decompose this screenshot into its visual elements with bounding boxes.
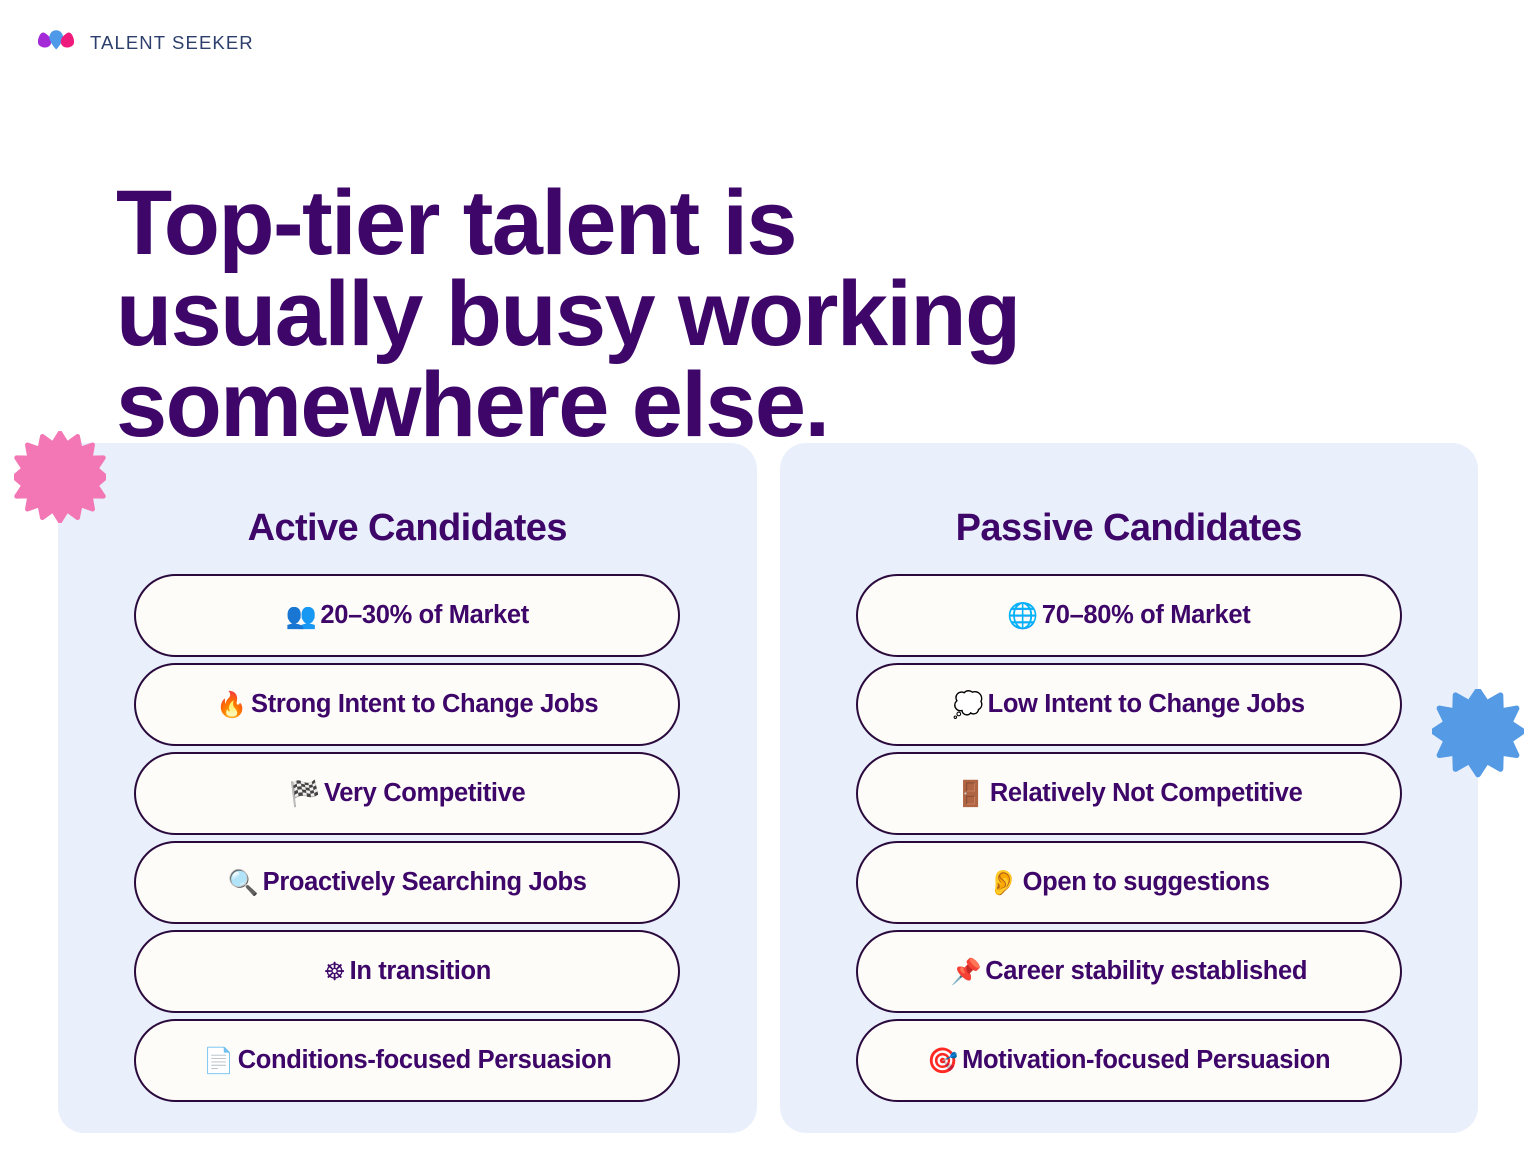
pill-label: Strong Intent to Change Jobs bbox=[251, 690, 598, 719]
pushpin-icon: 📌 bbox=[950, 959, 981, 984]
pill-label: Low Intent to Change Jobs bbox=[988, 690, 1305, 719]
pill-label: Open to suggestions bbox=[1023, 868, 1270, 897]
starburst-blue-decoration bbox=[1432, 689, 1524, 781]
headline-line-1: Top-tier talent is bbox=[116, 178, 1396, 269]
pill-item[interactable]: 🌐 70–80% of Market bbox=[856, 574, 1402, 657]
pill-label: 70–80% of Market bbox=[1042, 601, 1250, 630]
pill-item[interactable]: 🎯 Motivation-focused Persuasion bbox=[856, 1019, 1402, 1102]
panel-title-passive: Passive Candidates bbox=[956, 507, 1302, 550]
thought-balloon-icon: 💭 bbox=[953, 692, 984, 717]
pill-item[interactable]: 🔥 Strong Intent to Change Jobs bbox=[134, 663, 680, 746]
pill-label: Motivation-focused Persuasion bbox=[962, 1046, 1330, 1075]
brand-header: TALENT SEEKER bbox=[36, 28, 254, 58]
brand-name: TALENT SEEKER bbox=[90, 32, 254, 54]
pill-item[interactable]: 💭 Low Intent to Change Jobs bbox=[856, 663, 1402, 746]
pill-item[interactable]: 🏁 Very Competitive bbox=[134, 752, 680, 835]
pill-item[interactable]: 👥 20–30% of Market bbox=[134, 574, 680, 657]
pill-list-active: 👥 20–30% of Market 🔥 Strong Intent to Ch… bbox=[134, 574, 680, 1102]
pill-item[interactable]: ☸ In transition bbox=[134, 930, 680, 1013]
page-headline: Top-tier talent is usually busy working … bbox=[116, 178, 1396, 451]
pill-item[interactable]: 📌 Career stability established bbox=[856, 930, 1402, 1013]
pill-label: 20–30% of Market bbox=[320, 601, 528, 630]
headline-line-3: somewhere else. bbox=[116, 360, 1396, 451]
pill-label: Proactively Searching Jobs bbox=[263, 868, 587, 897]
pill-item[interactable]: 👂 Open to suggestions bbox=[856, 841, 1402, 924]
headline-line-2: usually busy working bbox=[116, 269, 1396, 360]
pill-label: In transition bbox=[350, 957, 491, 986]
pill-item[interactable]: 📄 Conditions-focused Persuasion bbox=[134, 1019, 680, 1102]
panel-passive-candidates: Passive Candidates 🌐 70–80% of Market 💭 … bbox=[780, 443, 1479, 1133]
busts-in-silhouette-icon: 👥 bbox=[286, 603, 317, 628]
pill-label: Very Competitive bbox=[324, 779, 525, 808]
pill-label: Conditions-focused Persuasion bbox=[238, 1046, 612, 1075]
pill-label: Relatively Not Competitive bbox=[990, 779, 1303, 808]
globe-meridians-icon: 🌐 bbox=[1007, 603, 1038, 628]
panel-title-active: Active Candidates bbox=[248, 507, 567, 550]
ear-icon: 👂 bbox=[988, 870, 1019, 895]
pill-item[interactable]: 🔍 Proactively Searching Jobs bbox=[134, 841, 680, 924]
starburst-pink-decoration bbox=[14, 431, 106, 523]
comparison-panels: Active Candidates 👥 20–30% of Market 🔥 S… bbox=[58, 443, 1478, 1133]
door-icon: 🚪 bbox=[955, 781, 986, 806]
fire-icon: 🔥 bbox=[216, 692, 247, 717]
pill-item[interactable]: 🚪 Relatively Not Competitive bbox=[856, 752, 1402, 835]
chequered-flag-icon: 🏁 bbox=[289, 781, 320, 806]
target-dart-icon: 🎯 bbox=[927, 1048, 958, 1073]
magnifying-glass-icon: 🔍 bbox=[228, 870, 259, 895]
pill-label: Career stability established bbox=[985, 957, 1307, 986]
panel-active-candidates: Active Candidates 👥 20–30% of Market 🔥 S… bbox=[58, 443, 757, 1133]
page-document-icon: 📄 bbox=[203, 1048, 234, 1073]
three-petal-logo-icon bbox=[36, 28, 76, 58]
wheel-icon: ☸ bbox=[324, 959, 346, 984]
pill-list-passive: 🌐 70–80% of Market 💭 Low Intent to Chang… bbox=[856, 574, 1402, 1102]
